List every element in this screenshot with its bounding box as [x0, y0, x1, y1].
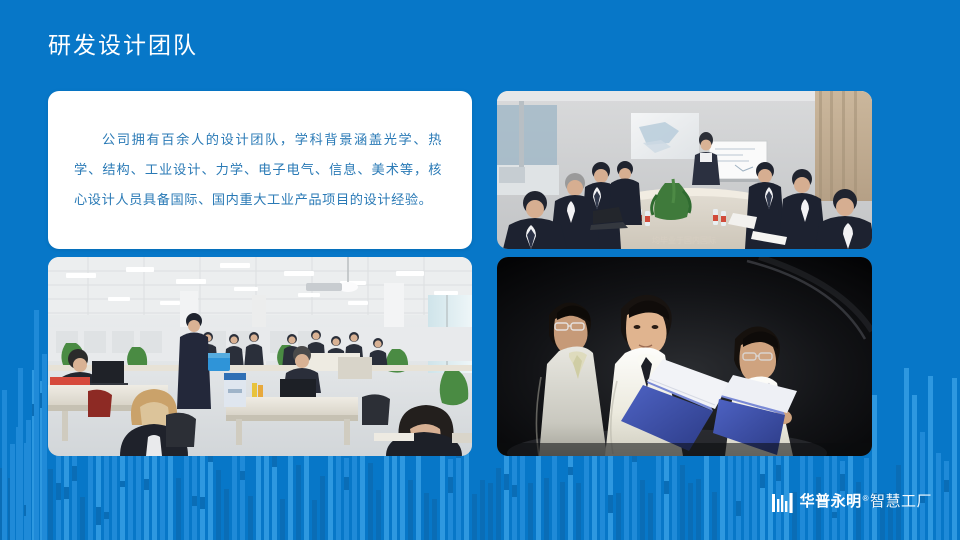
stripe-bar-notch [608, 495, 613, 513]
stripe-bar-notch [224, 510, 229, 524]
stripe-bar-tall [34, 310, 39, 540]
stripe-bar [160, 450, 165, 540]
stripe-bar-notch [448, 477, 453, 493]
stripe-bar-notch [736, 501, 741, 516]
footer-logo: 华普永明®智慧工厂 [771, 492, 932, 514]
stripe-bar-notch [648, 506, 653, 520]
stripe-bar [696, 479, 701, 540]
stripe-bar [600, 442, 605, 540]
stripe-bar [496, 468, 501, 540]
logo-brand-name: 华普永明 [800, 492, 862, 512]
photo-lab-team [497, 257, 872, 456]
photo-lab-team-image [497, 257, 872, 456]
stripe-bar-tall [42, 354, 47, 540]
stripe-bar [552, 449, 557, 540]
stripe-bar [528, 483, 533, 540]
stripe-bar-notch [216, 510, 221, 527]
photo-open-office [48, 257, 472, 456]
stripe-bar-notch [200, 497, 205, 509]
stripe-bar-notch [856, 523, 861, 532]
stripe-bar-notch [240, 471, 245, 480]
stripe-bar [920, 432, 925, 540]
stripe-bar-notch [376, 501, 381, 517]
stripe-bar [560, 482, 565, 540]
stripe-bar [904, 368, 909, 540]
stripe-bar-notch [664, 481, 669, 494]
stripe-bar [944, 461, 949, 540]
stripe-bar [688, 483, 693, 540]
stripe-bar [952, 378, 957, 540]
stripe-bar-notch [776, 465, 781, 481]
stripe-bar-notch [96, 507, 101, 525]
stripe-bar-notch [680, 517, 685, 530]
photo-meeting-room-image: 均毕业于国内国际 [497, 91, 872, 249]
stripe-bar [320, 476, 325, 540]
stripe-bar [936, 453, 941, 540]
page-title: 研发设计团队 [48, 30, 198, 60]
stripe-bar [344, 458, 349, 540]
stripe-bar-tall [26, 420, 31, 540]
logo-sub-brand: 智慧工厂 [870, 492, 932, 512]
stripe-bar [544, 478, 549, 540]
stripe-bar [872, 395, 877, 540]
stripe-bar-notch [104, 512, 109, 519]
stripe-bar-notch [192, 496, 197, 506]
stripe-bar-notch [616, 504, 621, 518]
stripe-bar [192, 443, 197, 540]
stripe-pattern-left-edge [0, 240, 52, 540]
photo-meeting-room: 均毕业于国内国际 [497, 91, 872, 249]
stripe-bar-notch [72, 466, 77, 481]
stripe-bar-tall [10, 444, 15, 540]
stripe-bar [752, 444, 757, 540]
stripe-bar-notch [120, 481, 125, 487]
stripe-bar [312, 500, 317, 540]
stripe-bar-notch [144, 479, 149, 490]
stripe-bar [480, 480, 485, 540]
stripe-bar [216, 470, 221, 540]
stripe-bar [928, 376, 933, 540]
stripe-bar-tall [18, 368, 23, 540]
logo-registered-mark: ® [863, 489, 869, 509]
stripe-bar-notch [56, 483, 61, 500]
stripe-bar [280, 499, 285, 540]
stripe-bar-notch [568, 467, 573, 475]
stripe-bar [640, 480, 645, 540]
stripe-bar-notch [472, 509, 477, 526]
description-paragraph: 公司拥有百余人的设计团队，学科背景涵盖光学、热学、结构、工业设计、力学、电子电气… [48, 91, 472, 215]
stripe-bar-notch [64, 487, 69, 499]
stripe-bar [448, 459, 453, 540]
photo-open-office-image [48, 257, 472, 456]
stripe-bar-notch [296, 493, 301, 511]
stripe-bar [488, 483, 493, 540]
stripe-bar-notch [512, 485, 517, 497]
stripe-bar-notch [424, 510, 429, 529]
stripe-bar-notch [176, 502, 181, 510]
stripe-bar [336, 454, 341, 540]
stripe-bar [912, 395, 917, 540]
stripe-bar [408, 480, 413, 540]
stripe-bar-notch [344, 477, 349, 490]
stripe-bar-tall [2, 390, 7, 540]
stripe-bar-notch [944, 480, 949, 492]
stripe-bar-notch [80, 513, 85, 526]
bars-logo-icon [771, 493, 793, 513]
stripe-bar-notch [840, 474, 845, 491]
stripe-bar-notch [504, 474, 509, 490]
svg-text:均毕业于国内国际: 均毕业于国内国际 [652, 235, 716, 245]
logo-wordmark: 华普永明®智慧工厂 [800, 492, 932, 514]
stripe-bar-notch [368, 521, 373, 531]
slide-canvas: 研发设计团队 公司拥有百余人的设计团队，学科背景涵盖光学、热学、结构、工业设计、… [0, 0, 960, 540]
stripe-bar [576, 483, 581, 540]
stripe-bar-notch [488, 500, 493, 511]
stripe-bar [248, 496, 253, 540]
description-card: 公司拥有百余人的设计团队，学科背景涵盖光学、热学、结构、工业设计、力学、电子电气… [48, 91, 472, 249]
stripe-bar-notch [816, 516, 821, 522]
stripe-bar [712, 492, 717, 540]
stripe-bar-notch [760, 474, 765, 488]
stripe-bar-notch [432, 511, 437, 523]
